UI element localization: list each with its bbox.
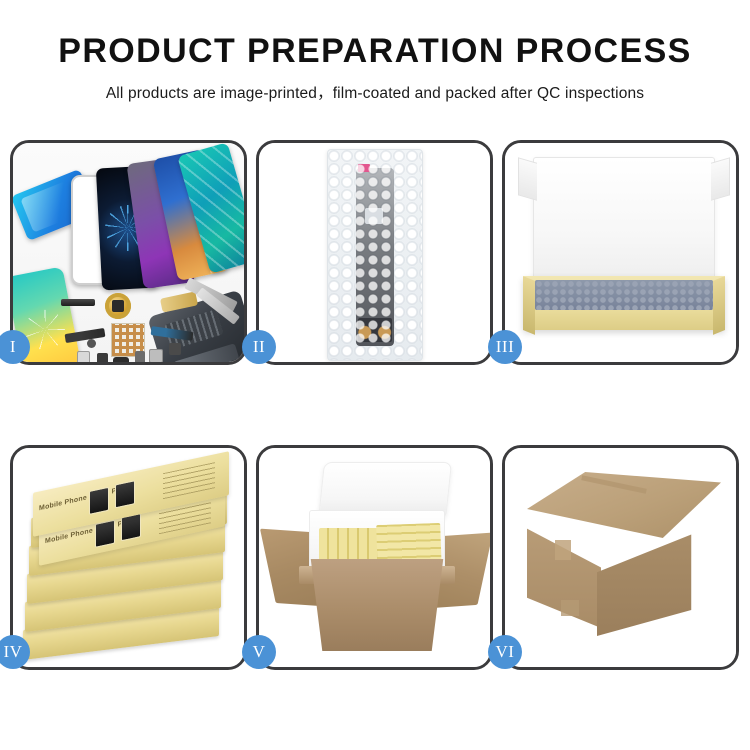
step-image-2 [259,143,490,362]
page-header: PRODUCT PREPARATION PROCESS All products… [0,0,750,103]
step-image-5 [259,448,490,667]
step-panel-1[interactable]: I [10,140,247,365]
step-badge-6: VI [488,635,522,669]
carton-tape-upper-icon [555,540,571,560]
white-box-lid-icon [533,157,715,289]
step-image-6 [505,448,736,667]
page-subtitle: All products are image-printed，film-coat… [0,81,750,103]
box-screen-print-icon [95,520,115,548]
page-title: PRODUCT PREPARATION PROCESS [0,34,750,70]
metal-bracket-icon [149,349,163,362]
step-panel-6[interactable]: VI [502,445,739,670]
box-stack-icon: Mobile Phone Spare Parts Mobile Phone Sp… [19,466,244,664]
step-panel-5[interactable]: V [256,445,493,670]
box-screen-print-icon [89,487,109,515]
step-badge-5: V [242,635,276,669]
step-panel-4[interactable]: Mobile Phone Spare Parts Mobile Phone Sp… [10,445,247,670]
chip-icon [169,343,181,355]
bubble-wrap-fill-icon [535,280,713,310]
box-screen-print-icon [115,480,135,508]
bubble-wrap-bag-icon [327,149,423,361]
earpiece-bar-icon [61,299,95,306]
step-badge-2: II [242,330,276,364]
button-part-icon [135,351,145,362]
step-image-4: Mobile Phone Spare Parts Mobile Phone Sp… [13,448,244,667]
step-panel-2[interactable]: II [256,140,493,365]
step-panel-3[interactable]: III [502,140,739,365]
small-part-icon [97,353,108,362]
sealed-carton-top-icon [527,472,721,538]
page-root: PRODUCT PREPARATION PROCESS All products… [0,0,750,750]
sim-tray-icon [77,351,90,362]
box-spec-lines-icon [163,462,215,499]
kraft-box-tray-icon [523,276,725,330]
lcd-screen-assembly-icon [356,168,394,346]
screw-icon [87,339,96,348]
camera-module-icon [113,357,129,362]
pink-label-icon [358,164,370,172]
carton-tape-lower-icon [561,600,579,616]
process-steps-grid: I II III [10,140,742,670]
step-badge-3: III [488,330,522,364]
carton-body-icon [305,559,449,651]
speaker-coil-icon [105,293,131,319]
step-image-1 [13,143,244,362]
step-image-3 [505,143,736,362]
